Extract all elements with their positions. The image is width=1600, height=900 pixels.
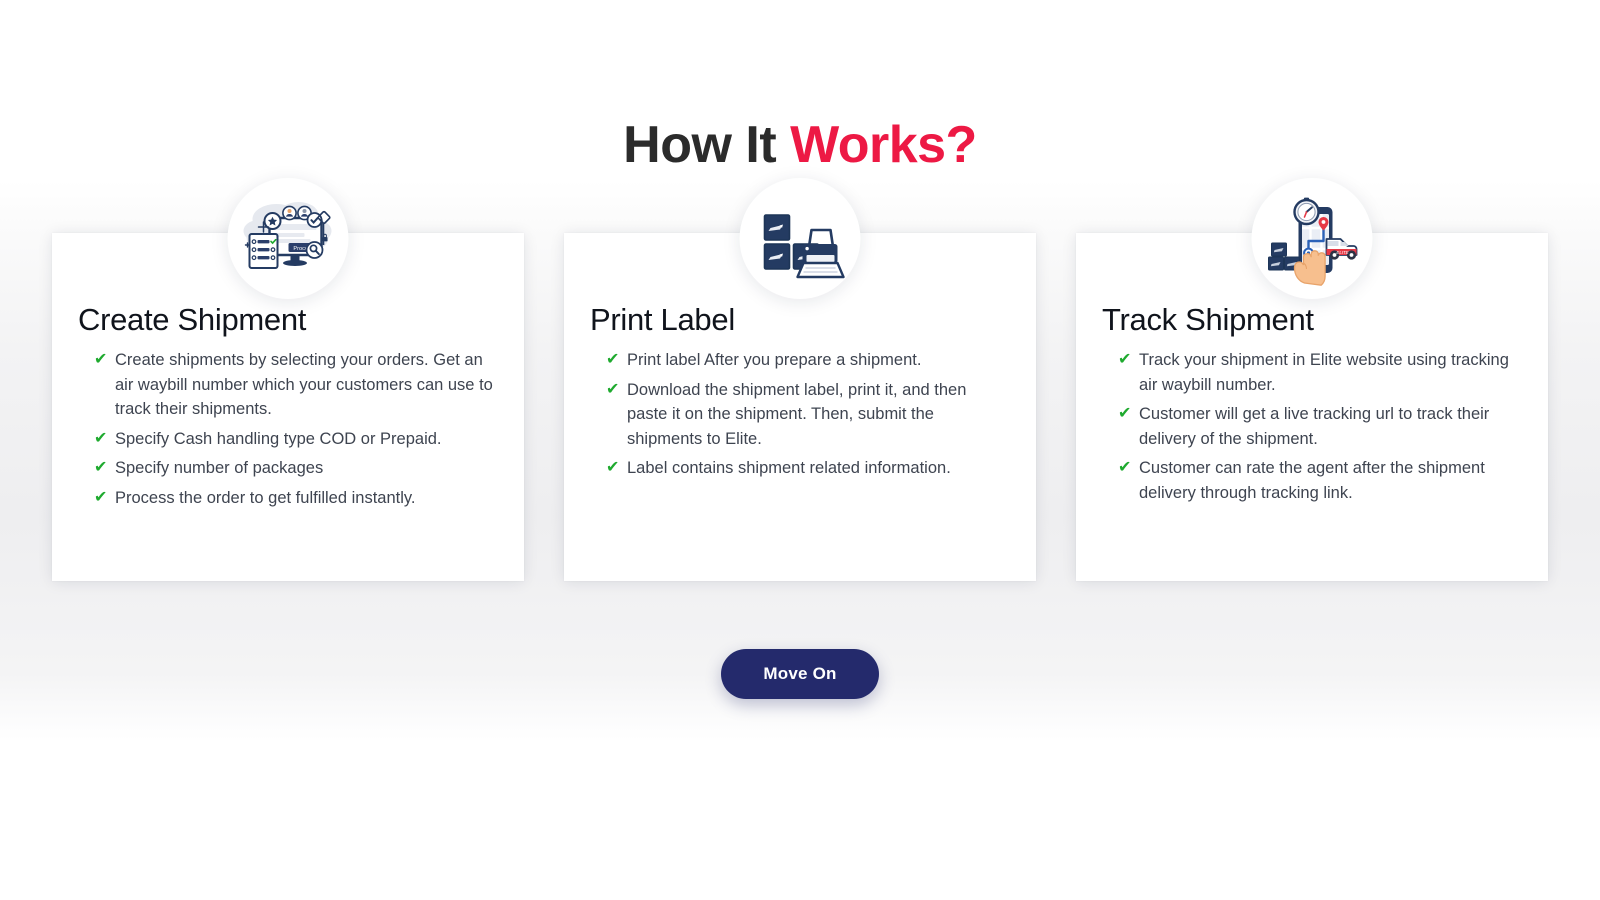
create-shipment-monitor-icon: Process bbox=[228, 178, 349, 299]
card-bullet-list: ✔ Create shipments by selecting your ord… bbox=[78, 348, 498, 510]
check-icon: ✔ bbox=[1118, 402, 1139, 427]
card-print-label: Print Label ✔ Print label After you prep… bbox=[564, 233, 1036, 581]
card-title: Track Shipment bbox=[1102, 301, 1522, 339]
list-item-text: Track your shipment in Elite website usi… bbox=[1139, 348, 1522, 397]
move-on-button[interactable]: Move On bbox=[721, 649, 878, 699]
card-title: Print Label bbox=[590, 301, 1010, 339]
track-shipment-phone-map-icon: ELITE bbox=[1252, 178, 1373, 299]
list-item-text: Print label After you prepare a shipment… bbox=[627, 348, 1010, 373]
check-icon: ✔ bbox=[1118, 348, 1139, 373]
list-item-text: Specify Cash handling type COD or Prepai… bbox=[115, 427, 498, 452]
svg-text:ELITE: ELITE bbox=[1336, 250, 1348, 255]
check-icon: ✔ bbox=[94, 348, 115, 373]
how-it-works-card-row: Process bbox=[52, 233, 1548, 581]
list-item: ✔ Customer can rate the agent after the … bbox=[1102, 456, 1522, 505]
card-create-shipment: Process bbox=[52, 233, 524, 581]
card-track-shipment: ELITE Track bbox=[1076, 233, 1548, 581]
check-icon: ✔ bbox=[606, 378, 627, 403]
list-item-text: Customer can rate the agent after the sh… bbox=[1139, 456, 1522, 505]
check-icon: ✔ bbox=[94, 427, 115, 452]
check-icon: ✔ bbox=[94, 486, 115, 511]
list-item-text: Download the shipment label, print it, a… bbox=[627, 378, 1010, 452]
check-icon: ✔ bbox=[94, 456, 115, 481]
cta-container: Move On bbox=[0, 649, 1600, 699]
list-item: ✔ Specify number of packages bbox=[78, 456, 498, 481]
list-item-text: Label contains shipment related informat… bbox=[627, 456, 1010, 481]
page-title: How It Works? bbox=[0, 112, 1600, 178]
check-icon: ✔ bbox=[606, 456, 627, 481]
list-item-text: Process the order to get fulfilled insta… bbox=[115, 486, 498, 511]
how-it-works-section: How It Works? bbox=[0, 0, 1600, 900]
list-item: ✔ Track your shipment in Elite website u… bbox=[1102, 348, 1522, 397]
page-title-accent: Works? bbox=[790, 116, 977, 174]
list-item: ✔ Label contains shipment related inform… bbox=[590, 456, 1010, 481]
list-item: ✔ Process the order to get fulfilled ins… bbox=[78, 486, 498, 511]
print-label-printer-icon bbox=[740, 178, 861, 299]
list-item: ✔ Specify Cash handling type COD or Prep… bbox=[78, 427, 498, 452]
check-icon: ✔ bbox=[606, 348, 627, 373]
list-item-text: Customer will get a live tracking url to… bbox=[1139, 402, 1522, 451]
list-item: ✔ Print label After you prepare a shipme… bbox=[590, 348, 1010, 373]
card-bullet-list: ✔ Print label After you prepare a shipme… bbox=[590, 348, 1010, 481]
list-item: ✔ Customer will get a live tracking url … bbox=[1102, 402, 1522, 451]
card-title: Create Shipment bbox=[78, 301, 498, 339]
list-item-text: Specify number of packages bbox=[115, 456, 498, 481]
list-item: ✔ Create shipments by selecting your ord… bbox=[78, 348, 498, 422]
page-title-lead: How It bbox=[623, 116, 790, 174]
check-icon: ✔ bbox=[1118, 456, 1139, 481]
list-item-text: Create shipments by selecting your order… bbox=[115, 348, 498, 422]
card-bullet-list: ✔ Track your shipment in Elite website u… bbox=[1102, 348, 1522, 505]
list-item: ✔ Download the shipment label, print it,… bbox=[590, 378, 1010, 452]
